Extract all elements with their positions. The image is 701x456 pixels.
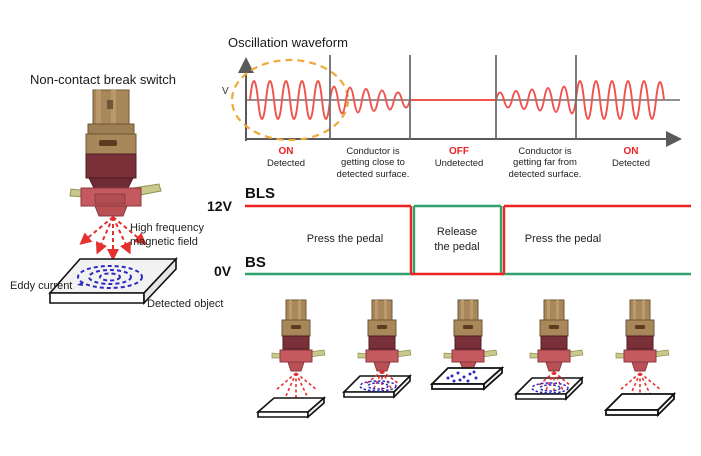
sensor-illustration-large: [55, 88, 205, 218]
waveform-segment-0: ON Detected: [246, 146, 326, 169]
eddy-current-label: Eddy current: [10, 280, 72, 294]
magnetic-field-label: High frequency magnetic field: [130, 222, 204, 250]
sensor-step-plate-far-left: [252, 298, 348, 418]
phase-label-1: Release the pedal: [419, 225, 495, 255]
sensor-step-plate-far-right: [596, 298, 692, 418]
waveform-segment-3: Conductor is getting far from detected s…: [504, 146, 586, 180]
sensor-step-plate-receding: [510, 298, 606, 418]
waveform-segment-1: Conductor is getting close to detected s…: [332, 146, 414, 180]
phase-label-0: Press the pedal: [290, 233, 400, 245]
sensor-step-plate-approaching: [338, 298, 434, 418]
oscillation-waveform-chart: [228, 55, 688, 145]
detected-object-label: Detected object: [147, 298, 223, 312]
waveform-segment-2: OFF Undetected: [418, 146, 500, 169]
phase-label-2: Press the pedal: [508, 233, 618, 245]
page-title-left: Non-contact break switch: [30, 72, 176, 87]
voltage-high-label: 12V: [207, 198, 232, 214]
waveform-axis-label: V: [222, 86, 229, 97]
sensor-sequence-strip: [252, 298, 692, 423]
sensor-step-plate-contact: [424, 298, 520, 418]
waveform-legend-row: ON Detected Conductor is getting close t…: [246, 146, 696, 192]
waveform-segment-4: ON Detected: [591, 146, 671, 169]
waveform-title: Oscillation waveform: [228, 35, 348, 50]
voltage-low-label: 0V: [214, 263, 231, 279]
